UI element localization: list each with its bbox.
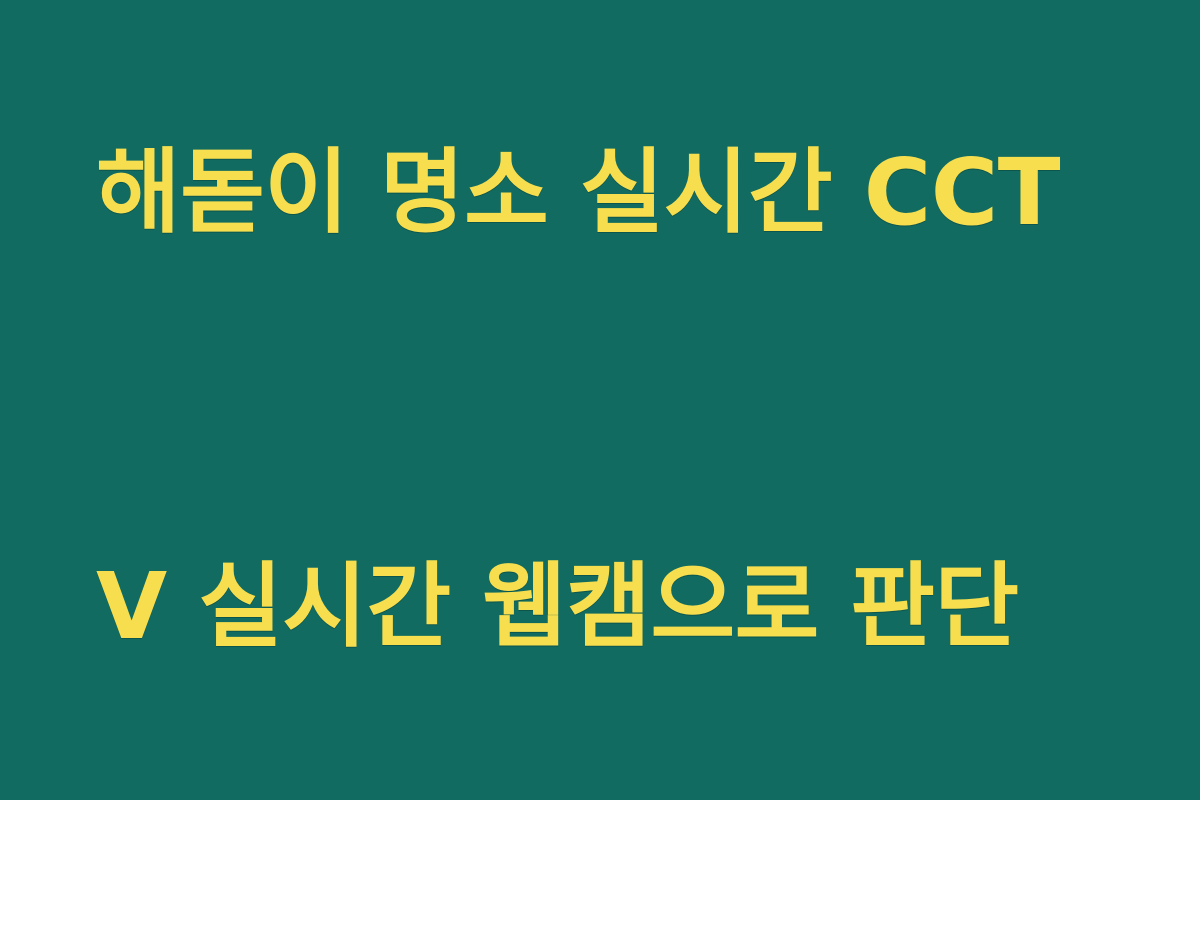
banner-headline: 해돋이 명소 실시간 CCT V 실시간 웹캠으로 판단 (96, 0, 1060, 952)
headline-line-2: V 실시간 웹캠으로 판단 (96, 538, 1060, 676)
headline-line-1: 해돋이 명소 실시간 CCT (96, 124, 1060, 262)
text-banner: 해돋이 명소 실시간 CCT V 실시간 웹캠으로 판단 (0, 0, 1200, 800)
